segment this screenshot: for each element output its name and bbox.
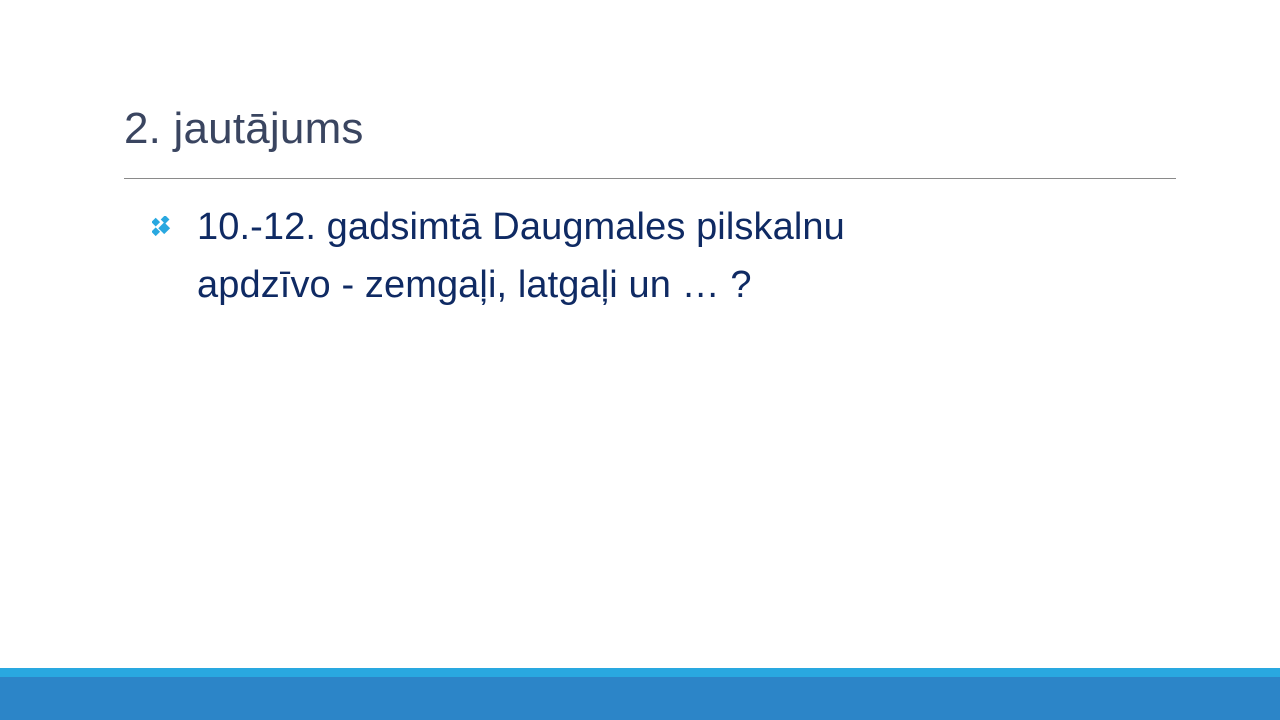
slide-canvas: 2. jautājums 10.-12. gadsimtā Daugmales … [0,0,1280,720]
footer-accent-bar-dark [0,677,1280,720]
title-divider [124,178,1176,179]
slide-body: 10.-12. gadsimtā Daugmales pilskalnu apd… [140,198,1140,314]
list-item-label: 10.-12. gadsimtā Daugmales pilskalnu apd… [197,198,1140,314]
page-title: 2. jautājums [124,101,1184,157]
footer-accent-bar-light [0,668,1280,677]
diamond-cluster-bullet-icon [152,216,174,238]
list-item: 10.-12. gadsimtā Daugmales pilskalnu apd… [140,198,1140,314]
